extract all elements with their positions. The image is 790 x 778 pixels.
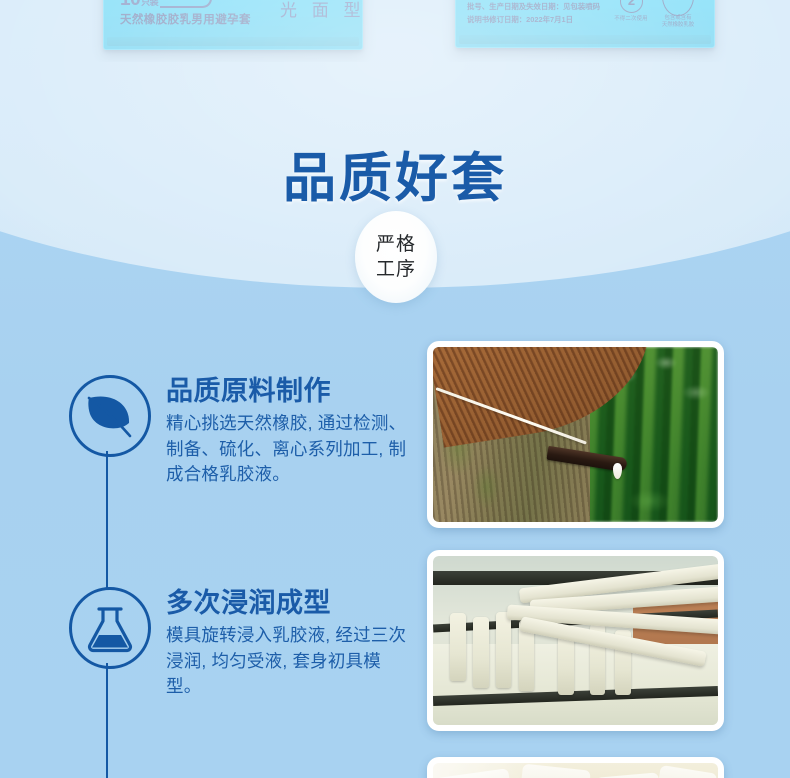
strict-process-badge: 严格 工序 [355, 211, 437, 303]
timeline-connector-2 [106, 663, 108, 778]
feature-1-text: 品质原料制作 精心挑选天然橡胶, 通过检测、制备、硫化、离心系列加工, 制成合格… [166, 375, 414, 488]
badge-line-1: 严格 [376, 232, 416, 257]
dipping-scene [433, 556, 718, 725]
box-quantity-unit: 只装 [141, 0, 158, 7]
latex-drop [613, 463, 622, 479]
timeline-connector-1 [106, 451, 108, 590]
no-reuse-icon: 2 [620, 0, 643, 13]
latex-sheets-scene [433, 763, 718, 778]
feature-3-photo [427, 757, 724, 778]
flask-icon [69, 587, 151, 669]
box-subtitle: 天然橡胶胶乳男用避孕套 [120, 11, 251, 27]
box-type-label: 光 面 型 [280, 0, 363, 21]
feature-1-photo [427, 341, 724, 528]
product-boxes-band: 10只装 天然橡胶胶乳男用避孕套 光 面 型 产品标准编号：GB/T 7544 … [0, 0, 790, 62]
feature-1-title: 品质原料制作 [166, 375, 414, 407]
flask-icon-glyph [72, 590, 148, 666]
feature-2-description: 模具旋转浸入乳胶液, 经过三次浸润, 均匀受液, 套身初具模型。 [166, 623, 414, 700]
feature-1-description: 精心挑选天然橡胶, 通过检测、制备、硫化、离心系列加工, 制成合格乳胶液。 [166, 411, 414, 488]
sheet-fold [434, 768, 517, 778]
rubber-tree-tapping-photo [433, 347, 718, 522]
sheet-fold [515, 764, 591, 778]
mold-form [496, 612, 512, 688]
leaf-icon-glyph [72, 378, 148, 454]
page-title: 品质好套 [0, 136, 790, 212]
condom-shape-icon [160, 0, 212, 8]
badge-line-2: 工序 [376, 257, 416, 282]
product-box-right: 产品标准编号：GB/T 7544 有效期：5年 批号、生产日期及失效日期：见包装… [455, 0, 715, 48]
dipping-line-photo [433, 556, 718, 725]
box-quantity: 10只装 [120, 0, 158, 11]
certification-marks: 2 不得二次使用 LATEX 包含或含有 天然橡胶乳胶 [608, 0, 704, 32]
latex-icon: LATEX [662, 0, 694, 16]
sheet-fold [650, 765, 718, 778]
feature-2-text: 多次浸润成型 模具旋转浸入乳胶液, 经过三次浸润, 均匀受液, 套身初具模型。 [166, 587, 414, 700]
product-box-left: 10只装 天然橡胶胶乳男用避孕套 光 面 型 [103, 0, 363, 50]
latex-sheets-photo [433, 763, 718, 778]
sheet-fold [596, 772, 664, 778]
mold-form [450, 613, 466, 681]
tree-scene [433, 347, 718, 522]
latex-caption: 包含或含有 天然橡胶乳胶 [652, 15, 704, 29]
feature-2-photo [427, 550, 724, 731]
feature-2-title: 多次浸润成型 [166, 587, 414, 619]
product-detail-page: 10只装 天然橡胶胶乳男用避孕套 光 面 型 产品标准编号：GB/T 7544 … [0, 0, 790, 778]
mold-form [473, 617, 489, 688]
no-reuse-caption: 不得二次使用 [608, 14, 654, 22]
leaf-icon [69, 375, 151, 457]
